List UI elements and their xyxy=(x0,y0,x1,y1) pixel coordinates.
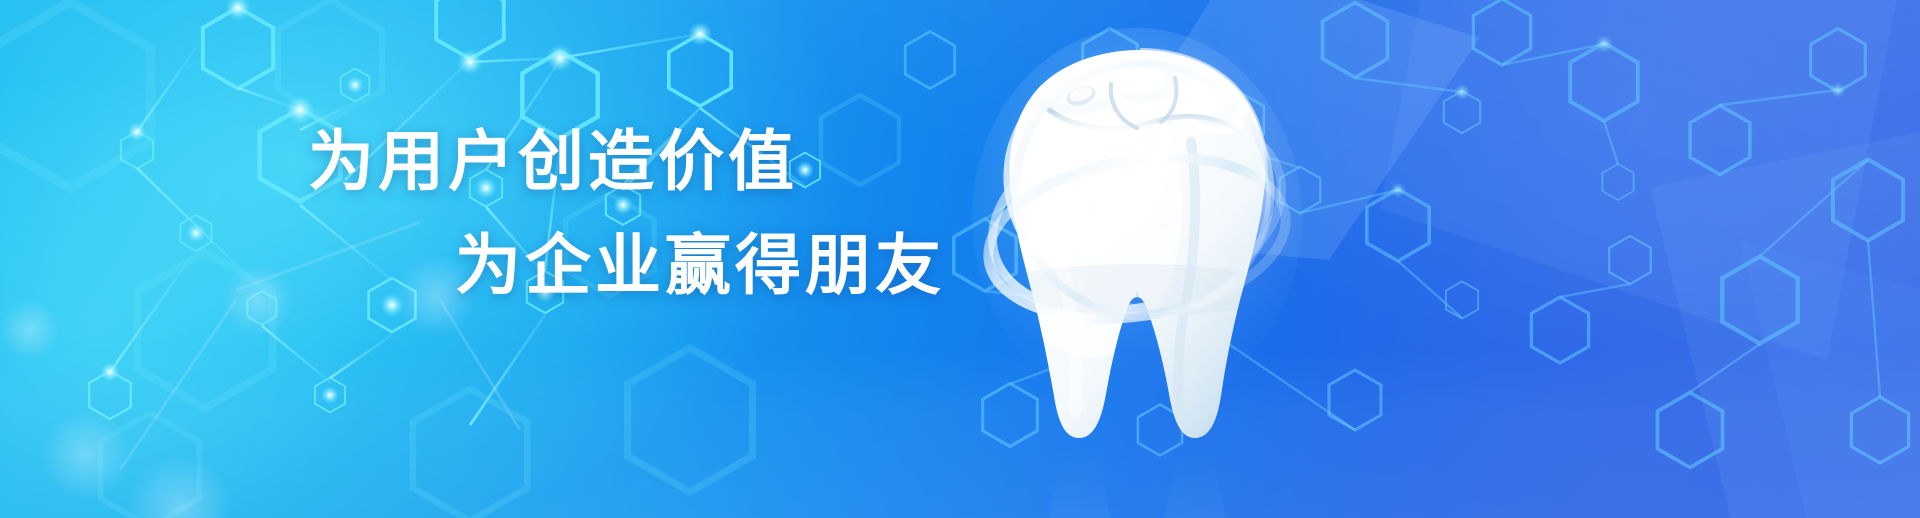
headline-block: 为用户创造价值 为企业赢得朋友 xyxy=(300,128,1000,298)
headline-line-2: 为企业赢得朋友 xyxy=(300,232,1000,298)
headline-line-1: 为用户创造价值 xyxy=(300,128,1000,194)
reflective-floor xyxy=(0,348,1920,518)
dental-promo-banner: 为用户创造价值 为企业赢得朋友 xyxy=(0,0,1920,518)
tooth-illustration xyxy=(985,38,1295,498)
